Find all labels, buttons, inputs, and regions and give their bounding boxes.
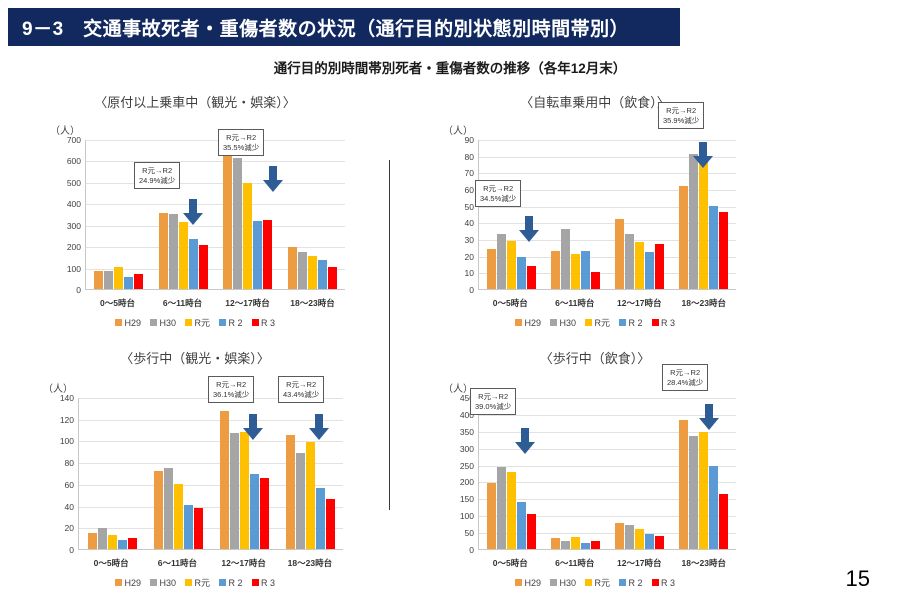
bar-R3-3[interactable]: [719, 494, 728, 549]
y-axis-tick-label: 0: [444, 546, 474, 555]
legend-swatch-icon: [515, 579, 522, 586]
annotation-callout: R元→R234.5%減少: [475, 180, 521, 207]
legend-item-H30[interactable]: H30: [150, 576, 176, 589]
annotation-line-1: R元→R2: [139, 166, 175, 176]
annotation-callout: R元→R243.4%減少: [278, 376, 324, 403]
bar-R3-2[interactable]: [263, 220, 272, 289]
x-axis-tick-labels: 0〜5時台6〜11時台12〜17時台18〜23時台: [85, 297, 345, 309]
annotation-line-2: 39.0%減少: [475, 402, 511, 412]
annotation-callout: R元→R239.0%減少: [470, 388, 516, 415]
chart-moped-sightseeing: 〈原付以上乗車中（観光・娯楽）〉（人）010020030040050060070…: [30, 92, 360, 317]
annotation-arrow-icon: [308, 414, 330, 442]
annotation-callout: R元→R235.5%減少: [218, 129, 264, 156]
bar-H30-0[interactable]: [104, 271, 113, 289]
bar-H29-1[interactable]: [551, 538, 560, 549]
slide-root: 9－3 交通事故死者・重傷者数の状況（通行目的別状態別時間帯別） 通行目的別時間…: [0, 0, 900, 600]
legend-swatch-icon: [550, 319, 557, 326]
y-axis-tick-label: 250: [444, 462, 474, 471]
legend-item-R2[interactable]: R 2: [219, 576, 243, 589]
bar-R2-0[interactable]: [118, 540, 127, 549]
bar-H29-2[interactable]: [223, 154, 232, 289]
y-axis-tick-label: 0: [44, 546, 74, 555]
bar-R2-1[interactable]: [184, 505, 193, 550]
bar-R元-0[interactable]: [507, 241, 516, 289]
x-axis-tick-label: 18〜23時台: [672, 557, 737, 569]
bar-R2-2[interactable]: [645, 534, 654, 549]
bar-H29-1[interactable]: [154, 471, 163, 549]
legend-label: R 2: [229, 578, 243, 588]
chart-walking-sightseeing: 〈歩行中（観光・娯楽）〉（人）0204060801001201400〜5時台6〜…: [30, 348, 360, 576]
legend-label: R 3: [661, 318, 675, 328]
bar-H30-1[interactable]: [561, 541, 570, 549]
bar-group: [479, 140, 543, 289]
bar-R元-2[interactable]: [635, 529, 644, 549]
bar-group: [216, 140, 281, 289]
bar-R3-1[interactable]: [199, 245, 208, 289]
legend-label: H29: [124, 578, 141, 588]
legend-label: R 3: [261, 318, 275, 328]
bar-groups: [86, 140, 345, 289]
y-axis-tick-label: 60: [44, 481, 74, 490]
x-axis-tick-label: 6〜11時台: [543, 297, 608, 309]
legend-swatch-icon: [550, 579, 557, 586]
x-axis-tick-label: 6〜11時台: [150, 297, 215, 309]
bar-R3-3[interactable]: [328, 267, 337, 289]
chart-title: 〈原付以上乗車中（観光・娯楽）〉: [30, 92, 360, 111]
bar-group: [608, 398, 672, 549]
bar-H29-3[interactable]: [679, 420, 688, 549]
bar-H30-1[interactable]: [561, 229, 570, 289]
bar-H30-2[interactable]: [233, 158, 242, 289]
bar-R元-1[interactable]: [179, 222, 188, 289]
legend-label: R元: [195, 576, 211, 589]
legend-swatch-icon: [515, 319, 522, 326]
bar-H30-0[interactable]: [497, 234, 506, 289]
annotation-arrow-icon: [698, 404, 720, 432]
annotation-callout: R元→R224.9%減少: [134, 162, 180, 189]
bar-R3-0[interactable]: [527, 514, 536, 549]
legend-label: H30: [159, 318, 176, 328]
bar-R元-0[interactable]: [108, 535, 117, 549]
bar-R元-2[interactable]: [243, 183, 252, 290]
legend-label: R 2: [629, 578, 643, 588]
chart-title: 〈自転車乗用中（飲食）〉: [430, 92, 760, 111]
x-axis-tick-label: 0〜5時台: [478, 297, 543, 309]
annotation-arrow-icon: [182, 199, 204, 227]
y-axis-tick-label: 40: [444, 219, 474, 228]
legend-item-H29[interactable]: H29: [115, 576, 141, 589]
bar-R3-1[interactable]: [194, 508, 203, 549]
legend-label: R元: [195, 316, 211, 329]
bar-H30-0[interactable]: [98, 528, 107, 549]
legend-swatch-icon: [150, 319, 157, 326]
bar-R2-2[interactable]: [645, 252, 654, 289]
annotation-arrow-icon: [692, 142, 714, 170]
legend-swatch-icon: [150, 579, 157, 586]
y-axis-tick-label: 150: [444, 495, 474, 504]
bar-R元-3[interactable]: [308, 256, 317, 289]
annotation-line-2: 35.5%減少: [223, 143, 259, 153]
y-axis-tick-label: 50: [444, 203, 474, 212]
legend-item-H30[interactable]: H30: [550, 576, 576, 589]
plot-area: [85, 140, 345, 290]
annotation-line-1: R元→R2: [213, 380, 249, 390]
chart-legend: H29H30R元R 2R 3: [430, 576, 760, 589]
bar-group: [145, 398, 211, 549]
legend-item-R元[interactable]: R元: [185, 316, 210, 329]
chart-title: 〈歩行中（観光・娯楽）〉: [30, 348, 360, 367]
legend-swatch-icon: [185, 579, 192, 586]
bar-H29-2[interactable]: [220, 411, 229, 549]
page-number: 15: [846, 566, 870, 592]
bar-R2-1[interactable]: [189, 239, 198, 289]
bar-R2-3[interactable]: [709, 466, 718, 549]
annotation-line-2: 28.4%減少: [667, 378, 703, 388]
bar-H30-1[interactable]: [164, 468, 173, 549]
legend-item-H29[interactable]: H29: [515, 576, 541, 589]
bar-R3-3[interactable]: [326, 499, 335, 549]
legend-swatch-icon: [219, 319, 226, 326]
y-axis-tick-label: 600: [51, 157, 81, 166]
page-title: 9－3 交通事故死者・重傷者数の状況（通行目的別状態別時間帯別）: [8, 14, 629, 41]
bar-R2-1[interactable]: [581, 543, 590, 549]
bar-group: [479, 398, 543, 549]
bar-group: [543, 140, 607, 289]
legend-swatch-icon: [252, 579, 259, 586]
legend-swatch-icon: [115, 579, 122, 586]
bar-H29-3[interactable]: [679, 186, 688, 289]
legend-item-R2[interactable]: R 2: [619, 316, 643, 329]
bar-R2-0[interactable]: [124, 277, 133, 289]
legend-swatch-icon: [185, 319, 192, 326]
legend-swatch-icon: [652, 579, 659, 586]
x-axis-tick-label: 18〜23時台: [280, 297, 345, 309]
annotation-line-2: 34.5%減少: [480, 194, 516, 204]
legend-item-R元[interactable]: R元: [585, 576, 610, 589]
bar-R2-2[interactable]: [253, 221, 262, 289]
chart-walking-dining: 〈歩行中（飲食）〉（人）0501001502002503003504004500…: [430, 348, 760, 576]
legend-swatch-icon: [115, 319, 122, 326]
x-axis-tick-labels: 0〜5時台6〜11時台12〜17時台18〜23時台: [478, 297, 736, 309]
bar-R3-3[interactable]: [719, 212, 728, 289]
y-axis-tick-label: 140: [44, 394, 74, 403]
y-axis-tick-label: 20: [44, 524, 74, 533]
legend-swatch-icon: [585, 319, 592, 326]
x-axis-tick-label: 12〜17時台: [211, 557, 277, 569]
x-axis-tick-label: 0〜5時台: [85, 297, 150, 309]
legend-item-R3[interactable]: R 3: [252, 576, 276, 589]
bar-R2-0[interactable]: [517, 502, 526, 549]
annotation-arrow-icon: [514, 428, 536, 456]
bar-H30-0[interactable]: [497, 467, 506, 549]
annotation-line-1: R元→R2: [475, 392, 511, 402]
annotation-line-1: R元→R2: [663, 106, 699, 116]
bar-H30-2[interactable]: [230, 433, 239, 549]
x-axis-tick-label: 6〜11時台: [144, 557, 210, 569]
legend-label: R 2: [629, 318, 643, 328]
bar-H29-3[interactable]: [286, 435, 295, 549]
slide-header-bar: 9－3 交通事故死者・重傷者数の状況（通行目的別状態別時間帯別）: [8, 8, 680, 46]
legend-label: H29: [524, 318, 541, 328]
bar-H30-3[interactable]: [298, 252, 307, 289]
bar-H29-1[interactable]: [551, 251, 560, 289]
chart-legend: H29H30R元R 2R 3: [30, 576, 360, 589]
bar-R元-1[interactable]: [571, 537, 580, 549]
bar-R元-3[interactable]: [699, 159, 708, 289]
bar-H29-0[interactable]: [88, 533, 97, 549]
y-axis-tick-label: 300: [51, 222, 81, 231]
legend-label: H29: [524, 578, 541, 588]
y-axis-tick-label: 70: [444, 169, 474, 178]
y-axis-tick-label: 0: [51, 286, 81, 295]
x-axis-tick-label: 18〜23時台: [672, 297, 737, 309]
y-axis-tick-label: 200: [51, 243, 81, 252]
legend-label: R元: [595, 576, 611, 589]
bar-R3-0[interactable]: [527, 266, 536, 289]
chart-legend: H29H30R元R 2R 3: [30, 316, 360, 329]
annotation-arrow-icon: [262, 166, 284, 194]
bar-group: [79, 398, 145, 549]
legend-item-H29[interactable]: H29: [515, 316, 541, 329]
x-axis-tick-label: 12〜17時台: [607, 557, 672, 569]
bar-H29-2[interactable]: [615, 523, 624, 549]
bar-R元-3[interactable]: [699, 432, 708, 549]
legend-item-R元[interactable]: R元: [585, 316, 610, 329]
bar-R3-1[interactable]: [591, 272, 600, 289]
bar-H30-3[interactable]: [296, 453, 305, 549]
y-axis-tick-label: 350: [444, 428, 474, 437]
bar-R2-0[interactable]: [517, 257, 526, 289]
x-axis-tick-label: 6〜11時台: [543, 557, 608, 569]
bar-H29-0[interactable]: [487, 483, 496, 549]
legend-label: R 3: [261, 578, 275, 588]
legend-label: H30: [559, 578, 576, 588]
annotation-line-1: R元→R2: [223, 133, 259, 143]
legend-swatch-icon: [619, 579, 626, 586]
bar-H30-3[interactable]: [689, 154, 698, 289]
bar-group: [280, 140, 345, 289]
annotation-arrow-icon: [242, 414, 264, 442]
bar-H30-3[interactable]: [689, 436, 698, 549]
annotation-arrow-icon: [518, 216, 540, 244]
y-axis-tick-label: 700: [51, 136, 81, 145]
y-axis-tick-label: 100: [44, 437, 74, 446]
slide-subtitle: 通行目的別時間帯別死者・重傷者数の推移（各年12月末）: [0, 57, 900, 77]
annotation-line-2: 35.9%減少: [663, 116, 699, 126]
bar-H29-1[interactable]: [159, 213, 168, 290]
bar-R元-1[interactable]: [571, 254, 580, 289]
legend-swatch-icon: [585, 579, 592, 586]
bar-H30-1[interactable]: [169, 214, 178, 289]
y-axis-tick-label: 20: [444, 253, 474, 262]
y-axis-tick-label: 100: [51, 265, 81, 274]
annotation-callout: R元→R235.9%減少: [658, 102, 704, 129]
annotation-line-1: R元→R2: [480, 184, 516, 194]
bar-R元-0[interactable]: [507, 472, 516, 549]
legend-item-H30[interactable]: H30: [550, 316, 576, 329]
legend-swatch-icon: [252, 319, 259, 326]
chart-legend: H29H30R元R 2R 3: [430, 316, 760, 329]
legend-item-R2[interactable]: R 2: [619, 576, 643, 589]
y-axis-tick-label: 200: [444, 478, 474, 487]
annotation-callout: R元→R236.1%減少: [208, 376, 254, 403]
y-axis-tick-label: 100: [444, 512, 474, 521]
annotation-line-1: R元→R2: [667, 368, 703, 378]
bar-H29-2[interactable]: [615, 219, 624, 289]
bar-R元-2[interactable]: [240, 432, 249, 549]
y-axis-tick-label: 40: [44, 503, 74, 512]
x-axis-tick-labels: 0〜5時台6〜11時台12〜17時台18〜23時台: [478, 557, 736, 569]
bar-R元-2[interactable]: [635, 242, 644, 289]
bar-group: [543, 398, 607, 549]
bar-H29-3[interactable]: [288, 247, 297, 289]
y-axis-tick-label: 400: [51, 200, 81, 209]
legend-item-R元[interactable]: R元: [185, 576, 210, 589]
bar-R2-3[interactable]: [318, 260, 327, 289]
y-axis-tick-label: 10: [444, 269, 474, 278]
legend-item-H30[interactable]: H30: [150, 316, 176, 329]
y-axis-tick-label: 300: [444, 445, 474, 454]
annotation-callout: R元→R228.4%減少: [662, 364, 708, 391]
legend-swatch-icon: [219, 579, 226, 586]
x-axis-tick-label: 0〜5時台: [478, 557, 543, 569]
legend-item-R3[interactable]: R 3: [652, 316, 676, 329]
bar-R3-2[interactable]: [655, 244, 664, 289]
annotation-line-2: 24.9%減少: [139, 176, 175, 186]
bar-H30-2[interactable]: [625, 234, 634, 289]
bar-R2-1[interactable]: [581, 251, 590, 289]
bar-R2-3[interactable]: [709, 206, 718, 289]
bar-R元-3[interactable]: [306, 442, 315, 549]
legend-label: H29: [124, 318, 141, 328]
column-divider: [389, 160, 390, 510]
bar-R元-0[interactable]: [114, 267, 123, 289]
legend-label: R元: [595, 316, 611, 329]
legend-swatch-icon: [619, 319, 626, 326]
bar-R3-1[interactable]: [591, 541, 600, 549]
bar-R3-0[interactable]: [128, 538, 137, 549]
y-axis-tick-label: 80: [44, 459, 74, 468]
legend-label: R 2: [229, 318, 243, 328]
bar-R2-3[interactable]: [316, 488, 325, 549]
y-axis-tick-label: 80: [444, 153, 474, 162]
legend-item-H29[interactable]: H29: [115, 316, 141, 329]
legend-label: H30: [559, 318, 576, 328]
y-axis-tick-label: 60: [444, 186, 474, 195]
x-axis-tick-label: 0〜5時台: [78, 557, 144, 569]
bar-R3-0[interactable]: [134, 274, 143, 289]
bar-H30-2[interactable]: [625, 525, 634, 549]
bar-H29-0[interactable]: [94, 271, 103, 289]
annotation-line-1: R元→R2: [283, 380, 319, 390]
x-axis-tick-label: 12〜17時台: [607, 297, 672, 309]
x-axis-tick-label: 18〜23時台: [277, 557, 343, 569]
y-axis-tick-label: 50: [444, 529, 474, 538]
bar-R3-2[interactable]: [655, 536, 664, 549]
legend-label: H30: [159, 578, 176, 588]
bar-R3-2[interactable]: [260, 478, 269, 549]
legend-item-R2[interactable]: R 2: [219, 316, 243, 329]
chart-bicycle-dining: 〈自転車乗用中（飲食）〉（人）01020304050607080900〜5時台6…: [430, 92, 760, 317]
y-axis-tick-label: 90: [444, 136, 474, 145]
x-axis-tick-label: 12〜17時台: [215, 297, 280, 309]
legend-swatch-icon: [652, 319, 659, 326]
annotation-line-2: 36.1%減少: [213, 390, 249, 400]
legend-label: R 3: [661, 578, 675, 588]
y-axis-tick-label: 120: [44, 416, 74, 425]
bar-R元-1[interactable]: [174, 484, 183, 549]
x-axis-tick-labels: 0〜5時台6〜11時台12〜17時台18〜23時台: [78, 557, 343, 569]
plot-area: [78, 398, 343, 550]
bar-groups: [79, 398, 343, 549]
y-axis-tick-label: 500: [51, 179, 81, 188]
bar-R2-2[interactable]: [250, 474, 259, 549]
y-axis-tick-label: 30: [444, 236, 474, 245]
legend-item-R3[interactable]: R 3: [252, 316, 276, 329]
legend-item-R3[interactable]: R 3: [652, 576, 676, 589]
chart-title: 〈歩行中（飲食）〉: [430, 348, 760, 367]
bar-group: [608, 140, 672, 289]
bar-H29-0[interactable]: [487, 249, 496, 289]
annotation-line-2: 43.4%減少: [283, 390, 319, 400]
y-axis-tick-label: 0: [444, 286, 474, 295]
